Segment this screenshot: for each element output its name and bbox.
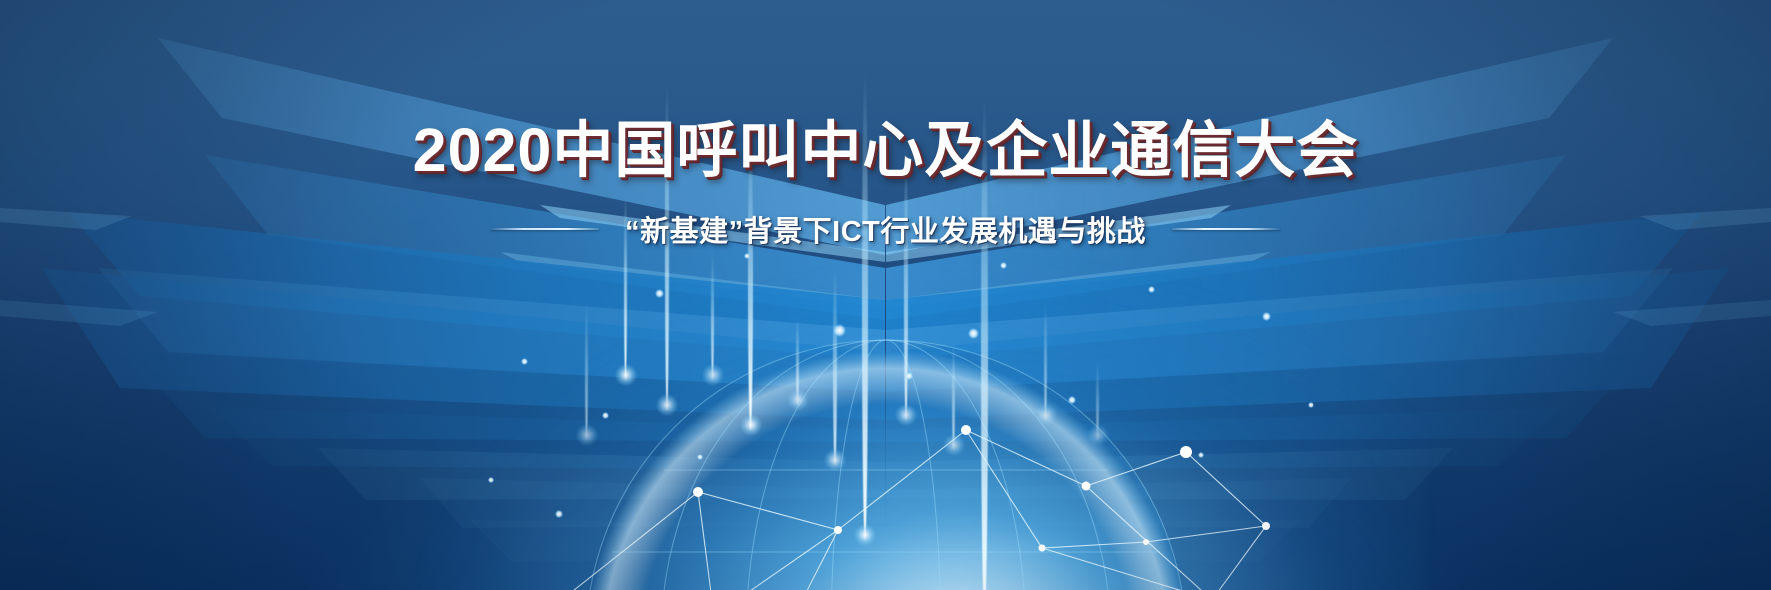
subtitle-rule-right (1172, 228, 1280, 230)
subtitle-row: “新基建”背景下ICT行业发展机遇与挑战 (0, 208, 1771, 250)
title-block: 2020中国呼叫中心及企业通信大会 “新基建”背景下ICT行业发展机遇与挑战 (0, 118, 1771, 250)
wing-left-graphic (0, 0, 885, 590)
subtitle-rule-left (491, 228, 599, 230)
subtitle: “新基建”背景下ICT行业发展机遇与挑战 (625, 208, 1146, 250)
particles-graphic (0, 0, 1771, 590)
conference-banner: 2020中国呼叫中心及企业通信大会 “新基建”背景下ICT行业发展机遇与挑战 (0, 0, 1771, 590)
globe-glow (346, 220, 1426, 590)
wing-graphics-layer (0, 0, 1771, 590)
vignette-overlay (0, 0, 1771, 590)
network-globe-graphic (446, 280, 1326, 590)
page-title: 2020中国呼叫中心及企业通信大会 (0, 118, 1771, 182)
wing-right-graphic (886, 0, 1771, 590)
light-beams-graphic (0, 0, 1771, 590)
